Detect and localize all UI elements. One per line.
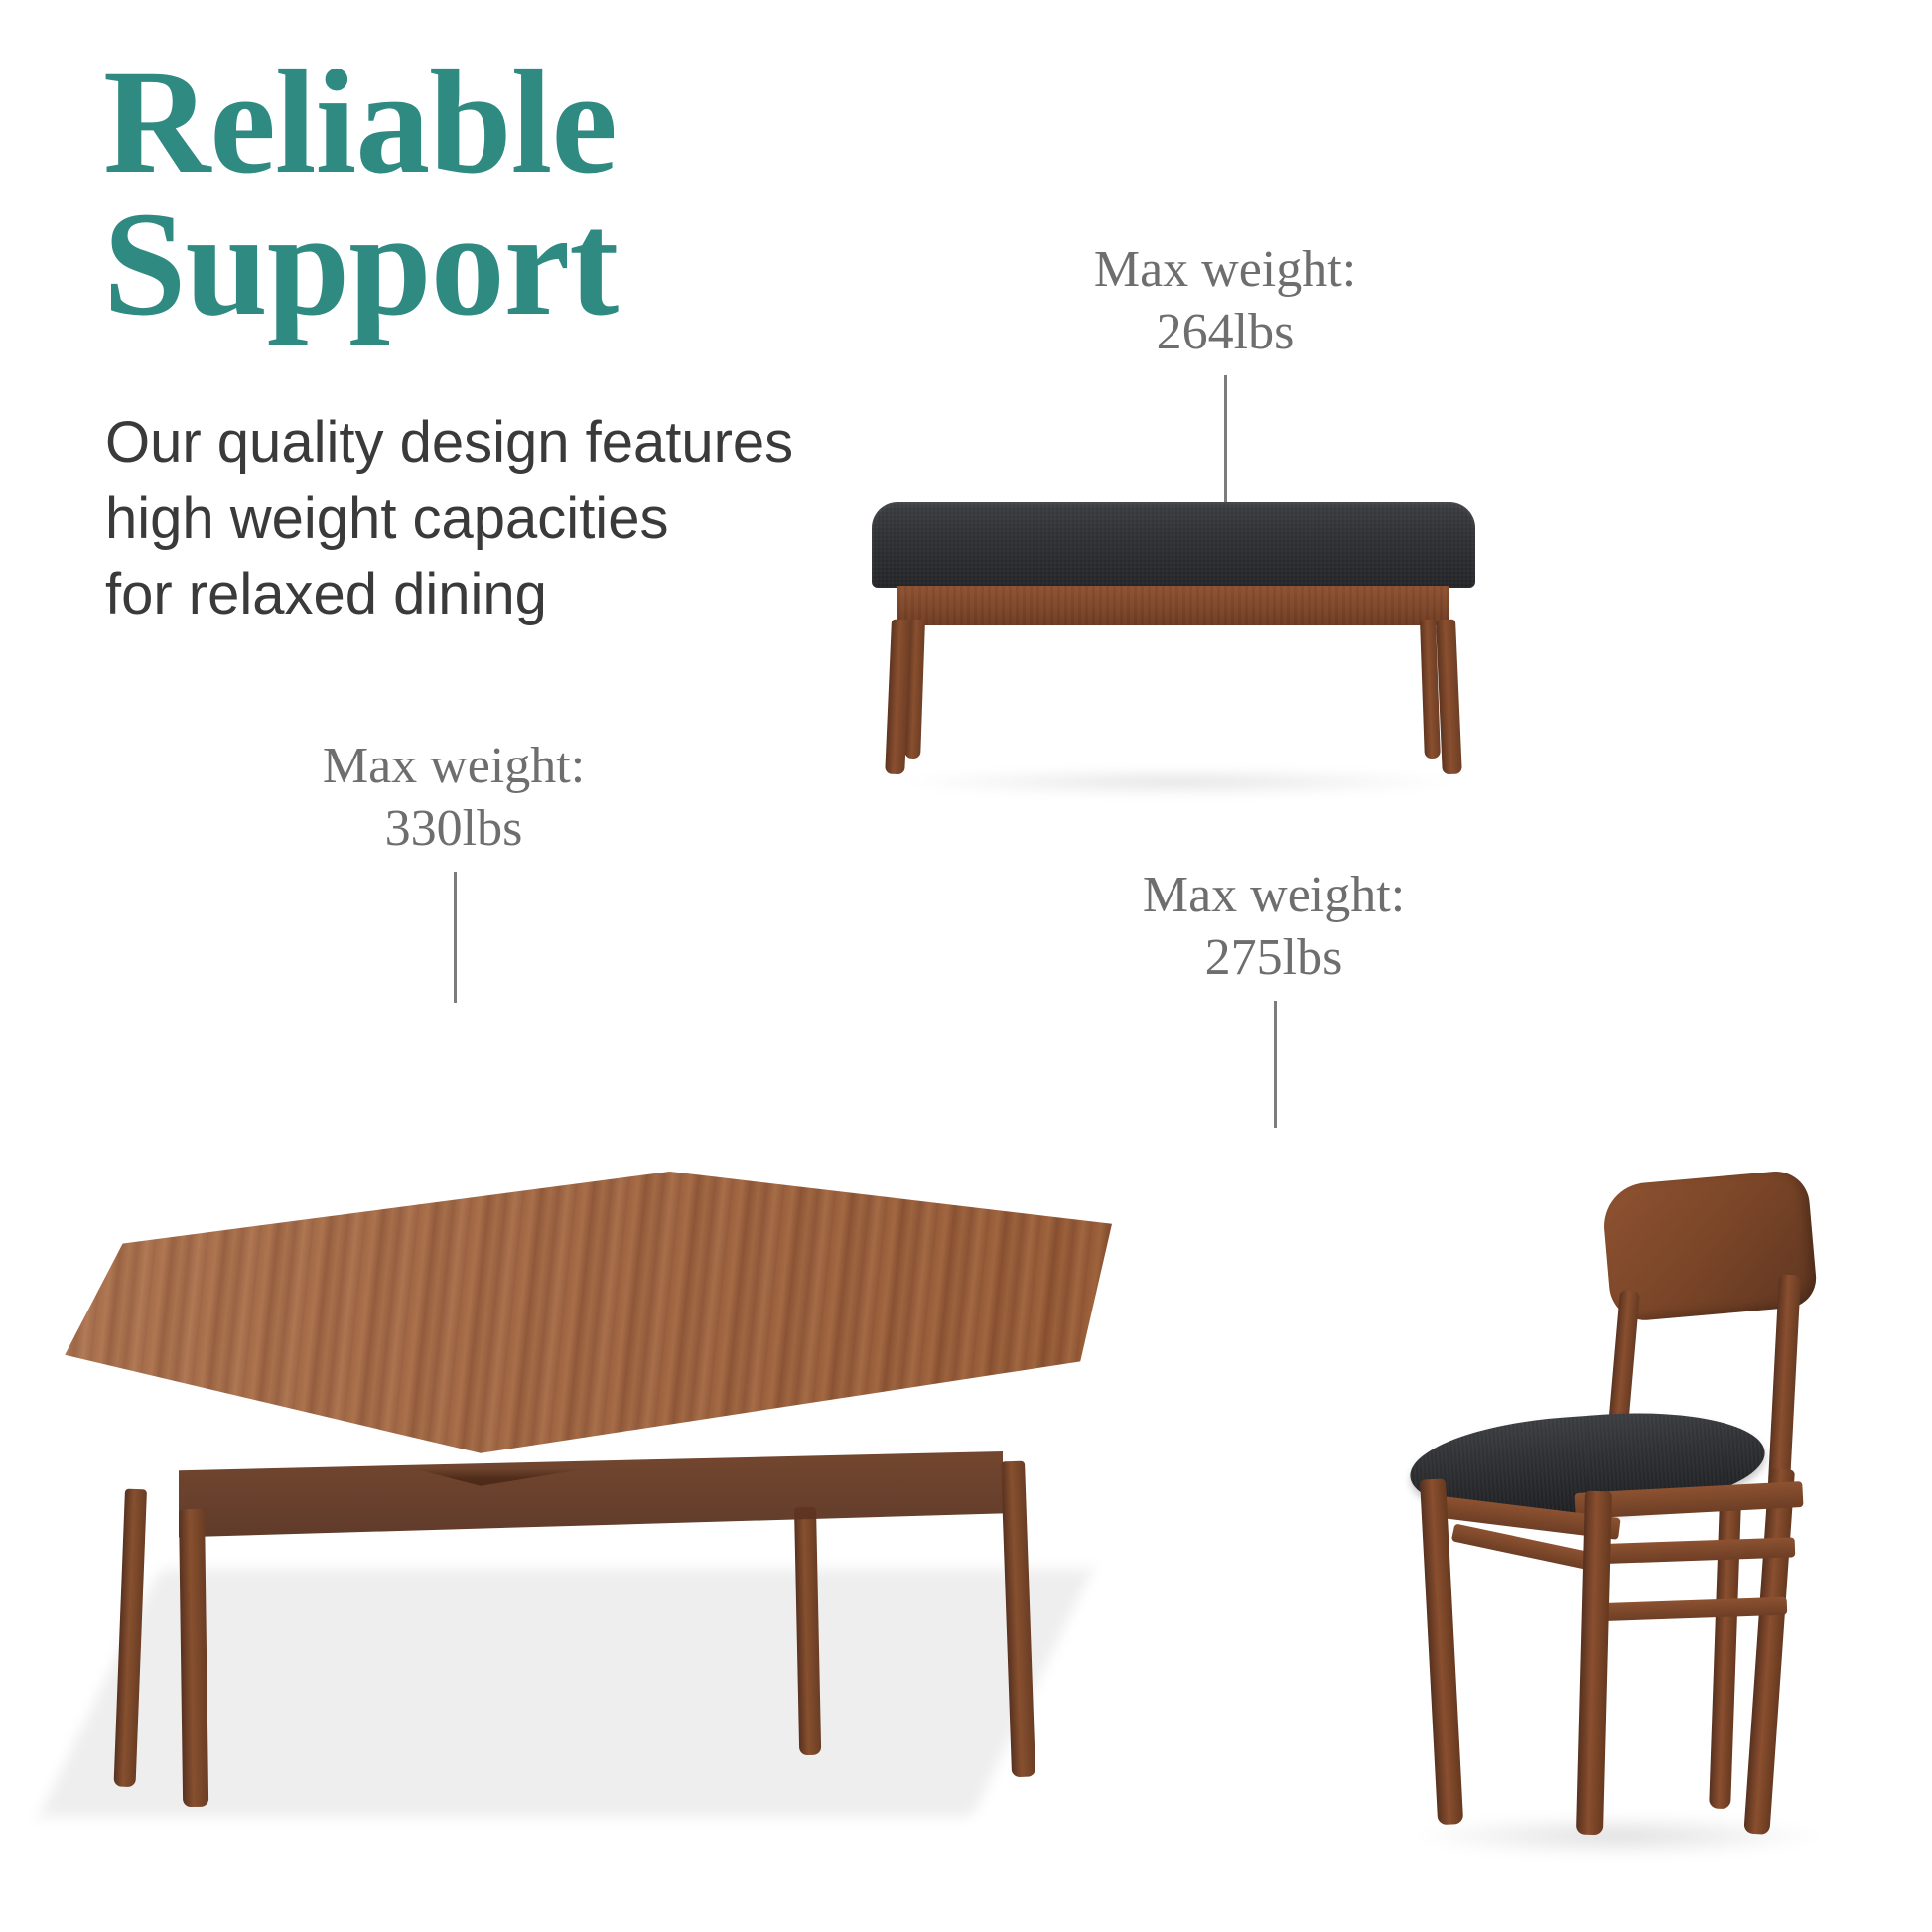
table-apron — [179, 1451, 1003, 1571]
subcopy: Our quality design features high weight … — [105, 405, 919, 633]
chair-leg-front-right — [1576, 1491, 1612, 1836]
infographic-canvas: Reliable Support Our quality design feat… — [0, 0, 1932, 1932]
callout-table-label: Max weight: — [323, 738, 585, 794]
callout-bench: Max weight: 264lbs — [1061, 238, 1389, 364]
leader-line-bench — [1224, 375, 1227, 502]
subcopy-line-1: Our quality design features — [105, 405, 919, 482]
product-image-bench — [866, 502, 1481, 830]
callout-bench-label: Max weight: — [1094, 241, 1356, 298]
bench-shadow — [899, 768, 1455, 796]
callout-bench-value: 264lbs — [1061, 301, 1389, 363]
product-image-table — [60, 1142, 1172, 1777]
table-leg-front-right — [179, 1509, 208, 1807]
callout-table-value: 330lbs — [290, 797, 618, 860]
headline-line-2: Support — [103, 194, 878, 336]
headline-line-1: Reliable — [103, 40, 617, 205]
chair-leg-back-left — [1743, 1468, 1795, 1835]
leader-line-table — [454, 872, 457, 1003]
callout-chair-value: 275lbs — [1110, 926, 1438, 989]
callout-chair: Max weight: 275lbs — [1110, 864, 1438, 990]
bench-apron — [897, 586, 1449, 625]
subcopy-line-3: for relaxed dining — [105, 557, 919, 633]
page-title: Reliable Support — [103, 52, 878, 335]
table-leg-back-left — [794, 1507, 821, 1755]
product-image-chair — [1390, 1172, 1906, 1886]
subcopy-line-2: high weight capacities — [105, 482, 919, 558]
leader-line-chair — [1274, 1001, 1277, 1128]
callout-chair-label: Max weight: — [1143, 867, 1405, 923]
callout-table: Max weight: 330lbs — [290, 735, 618, 861]
bench-cushion — [872, 502, 1475, 588]
